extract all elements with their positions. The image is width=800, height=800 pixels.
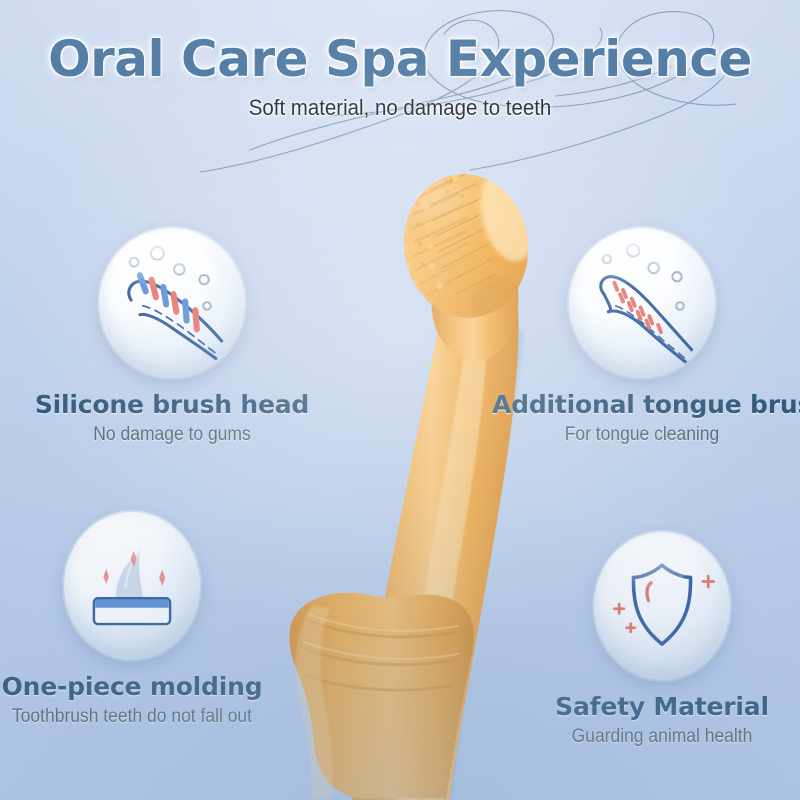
shield-icon xyxy=(594,532,730,680)
one-piece-bristle-icon xyxy=(64,512,200,660)
feature-silicone-brush-head: Silicone brush head No damage to gums xyxy=(32,228,312,446)
feature-icon-bubble xyxy=(64,512,200,660)
feature-icon-bubble xyxy=(569,228,715,378)
feature-additional-tongue-brush: Additional tongue brush For tongue clean… xyxy=(492,228,792,446)
feature-subtitle: Guarding animal health xyxy=(539,726,786,748)
feature-one-piece-molding: One-piece molding Toothbrush teeth do no… xyxy=(0,512,266,728)
feature-title: Silicone brush head xyxy=(32,390,312,419)
page-subtitle: Soft material, no damage to teeth xyxy=(28,95,772,121)
feature-subtitle: Toothbrush teeth do not fall out xyxy=(9,706,256,728)
feature-title: Safety Material xyxy=(528,692,796,721)
page-title: Oral Care Spa Experience xyxy=(0,0,800,85)
feature-icon-bubble xyxy=(594,532,730,680)
header: Oral Care Spa Experience Soft material, … xyxy=(0,0,800,121)
feature-safety-material: Safety Material Guarding animal health xyxy=(528,532,796,748)
feature-title: One-piece molding xyxy=(0,672,266,701)
feature-subtitle: No damage to gums xyxy=(43,424,301,446)
feature-subtitle: For tongue cleaning xyxy=(504,424,780,446)
toothbrush-head-icon xyxy=(99,228,245,378)
promo-image-canvas: Oral Care Spa Experience Soft material, … xyxy=(0,0,800,800)
feature-title: Additional tongue brush xyxy=(492,390,792,419)
feature-icon-bubble xyxy=(99,228,245,378)
tongue-brush-icon xyxy=(569,228,715,378)
